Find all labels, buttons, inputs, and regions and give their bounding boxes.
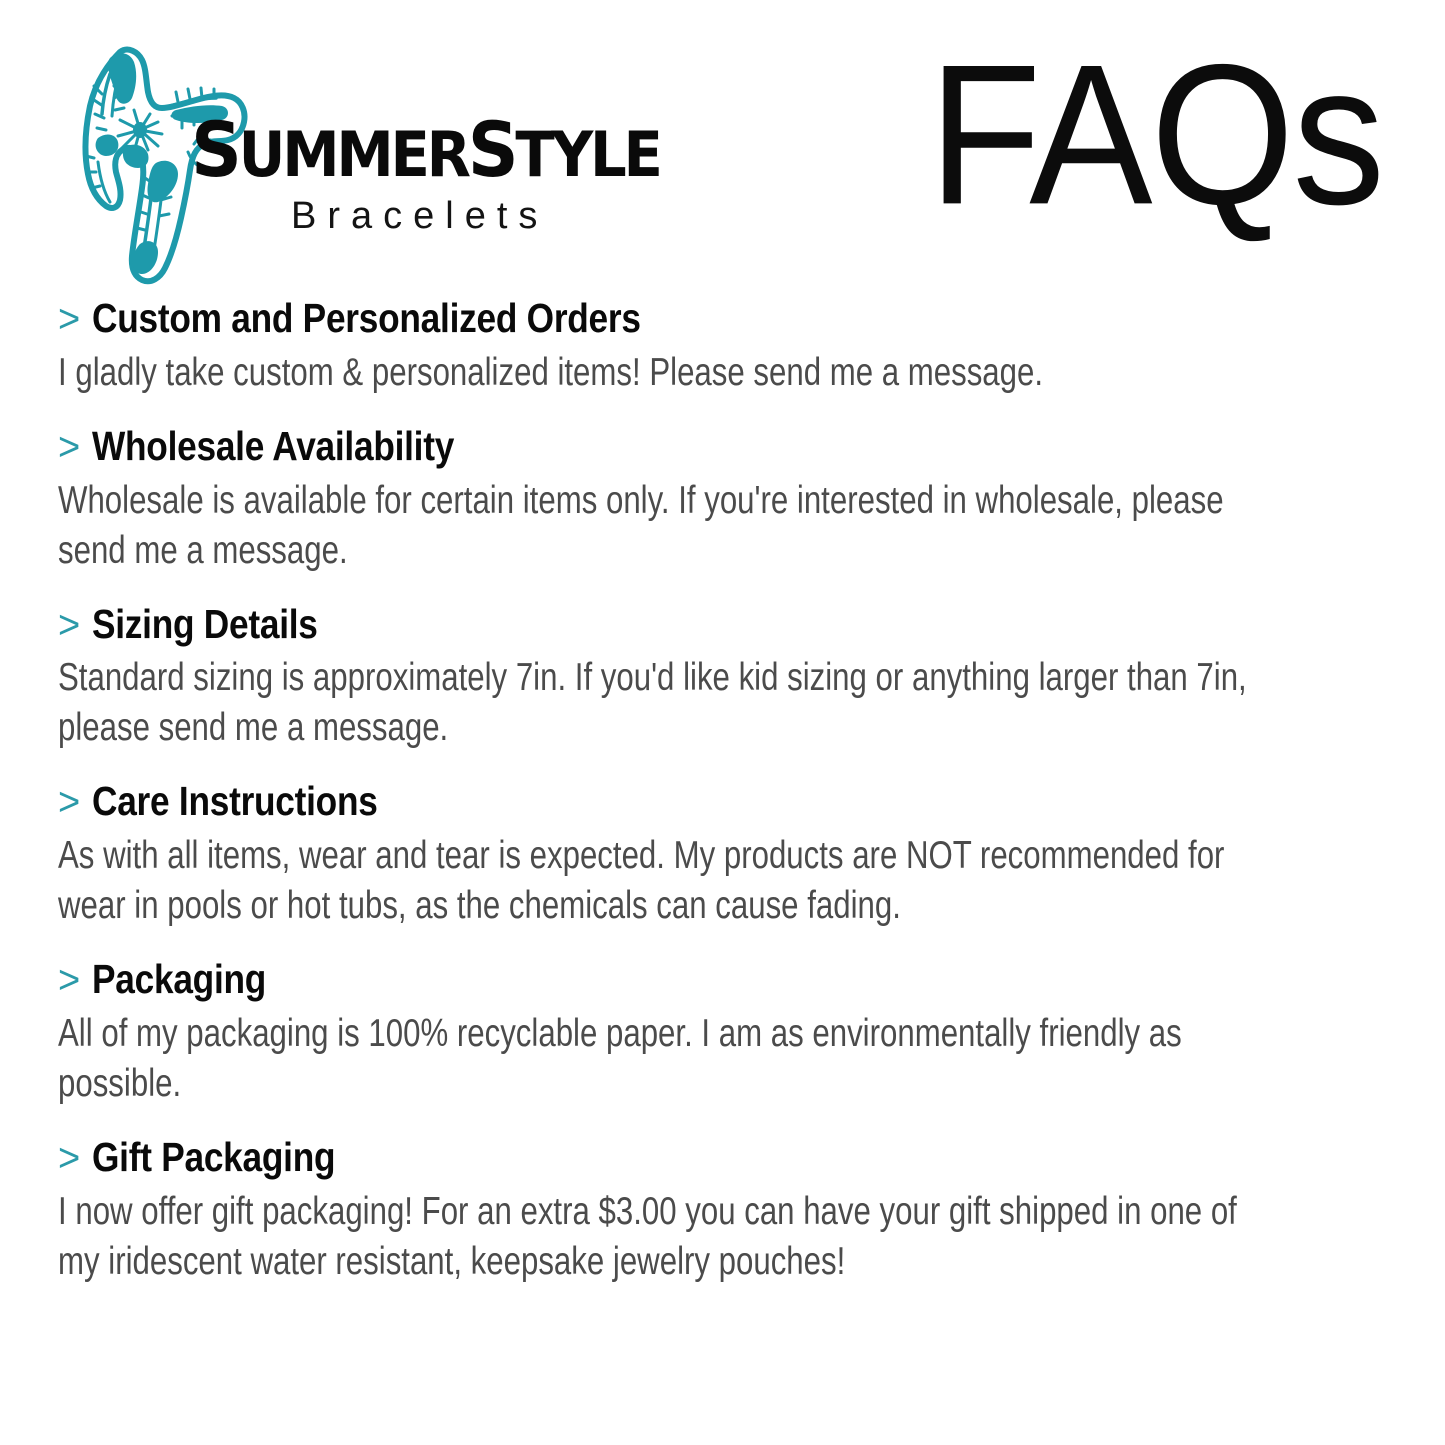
faq-heading-label: Gift Packaging — [92, 1135, 335, 1181]
page-title: FAQs — [928, 36, 1383, 236]
brand-wordmark: SUMMERSTYLE Bracelets — [191, 114, 661, 238]
faq-item-wholesale: > Wholesale Availability Wholesale is av… — [58, 424, 1273, 576]
faq-heading-label: Wholesale Availability — [92, 424, 454, 470]
chevron-right-icon: > — [58, 782, 80, 822]
brand-name-tyle: TYLE — [515, 118, 659, 191]
chevron-right-icon: > — [58, 299, 80, 339]
faq-body-text: Standard sizing is approximately 7in. If… — [58, 653, 1273, 753]
faq-body-text: All of my packaging is 100% recyclable p… — [58, 1009, 1273, 1109]
faq-body-text: I gladly take custom & personalized item… — [58, 348, 1273, 398]
faq-heading: > Custom and Personalized Orders — [58, 296, 1273, 342]
brand-logo: SUMMERSTYLE Bracelets — [58, 22, 678, 287]
page-header: SUMMERSTYLE Bracelets FAQs — [0, 0, 1445, 295]
chevron-right-icon: > — [58, 960, 80, 1000]
faq-list: > Custom and Personalized Orders I gladl… — [58, 296, 1273, 1286]
faq-item-packaging: > Packaging All of my packaging is 100% … — [58, 957, 1273, 1109]
faq-heading-label: Care Instructions — [92, 779, 378, 825]
faq-item-custom-orders: > Custom and Personalized Orders I gladl… — [58, 296, 1273, 398]
faq-item-care: > Care Instructions As with all items, w… — [58, 779, 1273, 931]
chevron-right-icon: > — [58, 605, 80, 645]
brand-name-ummer: UMMER — [239, 118, 468, 191]
faq-heading-label: Packaging — [92, 957, 266, 1003]
faq-heading: > Wholesale Availability — [58, 424, 1273, 470]
faq-body-text: I now offer gift packaging! For an extra… — [58, 1187, 1273, 1287]
faq-body-text: Wholesale is available for certain items… — [58, 476, 1273, 576]
faq-item-gift-packaging: > Gift Packaging I now offer gift packag… — [58, 1135, 1273, 1287]
faq-heading: > Sizing Details — [58, 602, 1273, 648]
chevron-right-icon: > — [58, 1138, 80, 1178]
faq-heading: > Gift Packaging — [58, 1135, 1273, 1181]
brand-name: SUMMERSTYLE — [191, 114, 628, 187]
faq-body-text: As with all items, wear and tear is expe… — [58, 831, 1273, 931]
faq-heading-label: Custom and Personalized Orders — [92, 296, 641, 342]
faq-heading: > Care Instructions — [58, 779, 1273, 825]
faq-item-sizing: > Sizing Details Standard sizing is appr… — [58, 602, 1273, 754]
faq-page: SUMMERSTYLE Bracelets FAQs > Custom and … — [0, 0, 1445, 1445]
faq-heading: > Packaging — [58, 957, 1273, 1003]
brand-name-s1: S — [191, 105, 239, 194]
brand-tagline: Bracelets — [291, 195, 661, 238]
chevron-right-icon: > — [58, 427, 80, 467]
brand-name-s2: S — [468, 105, 516, 194]
faq-heading-label: Sizing Details — [92, 602, 318, 648]
